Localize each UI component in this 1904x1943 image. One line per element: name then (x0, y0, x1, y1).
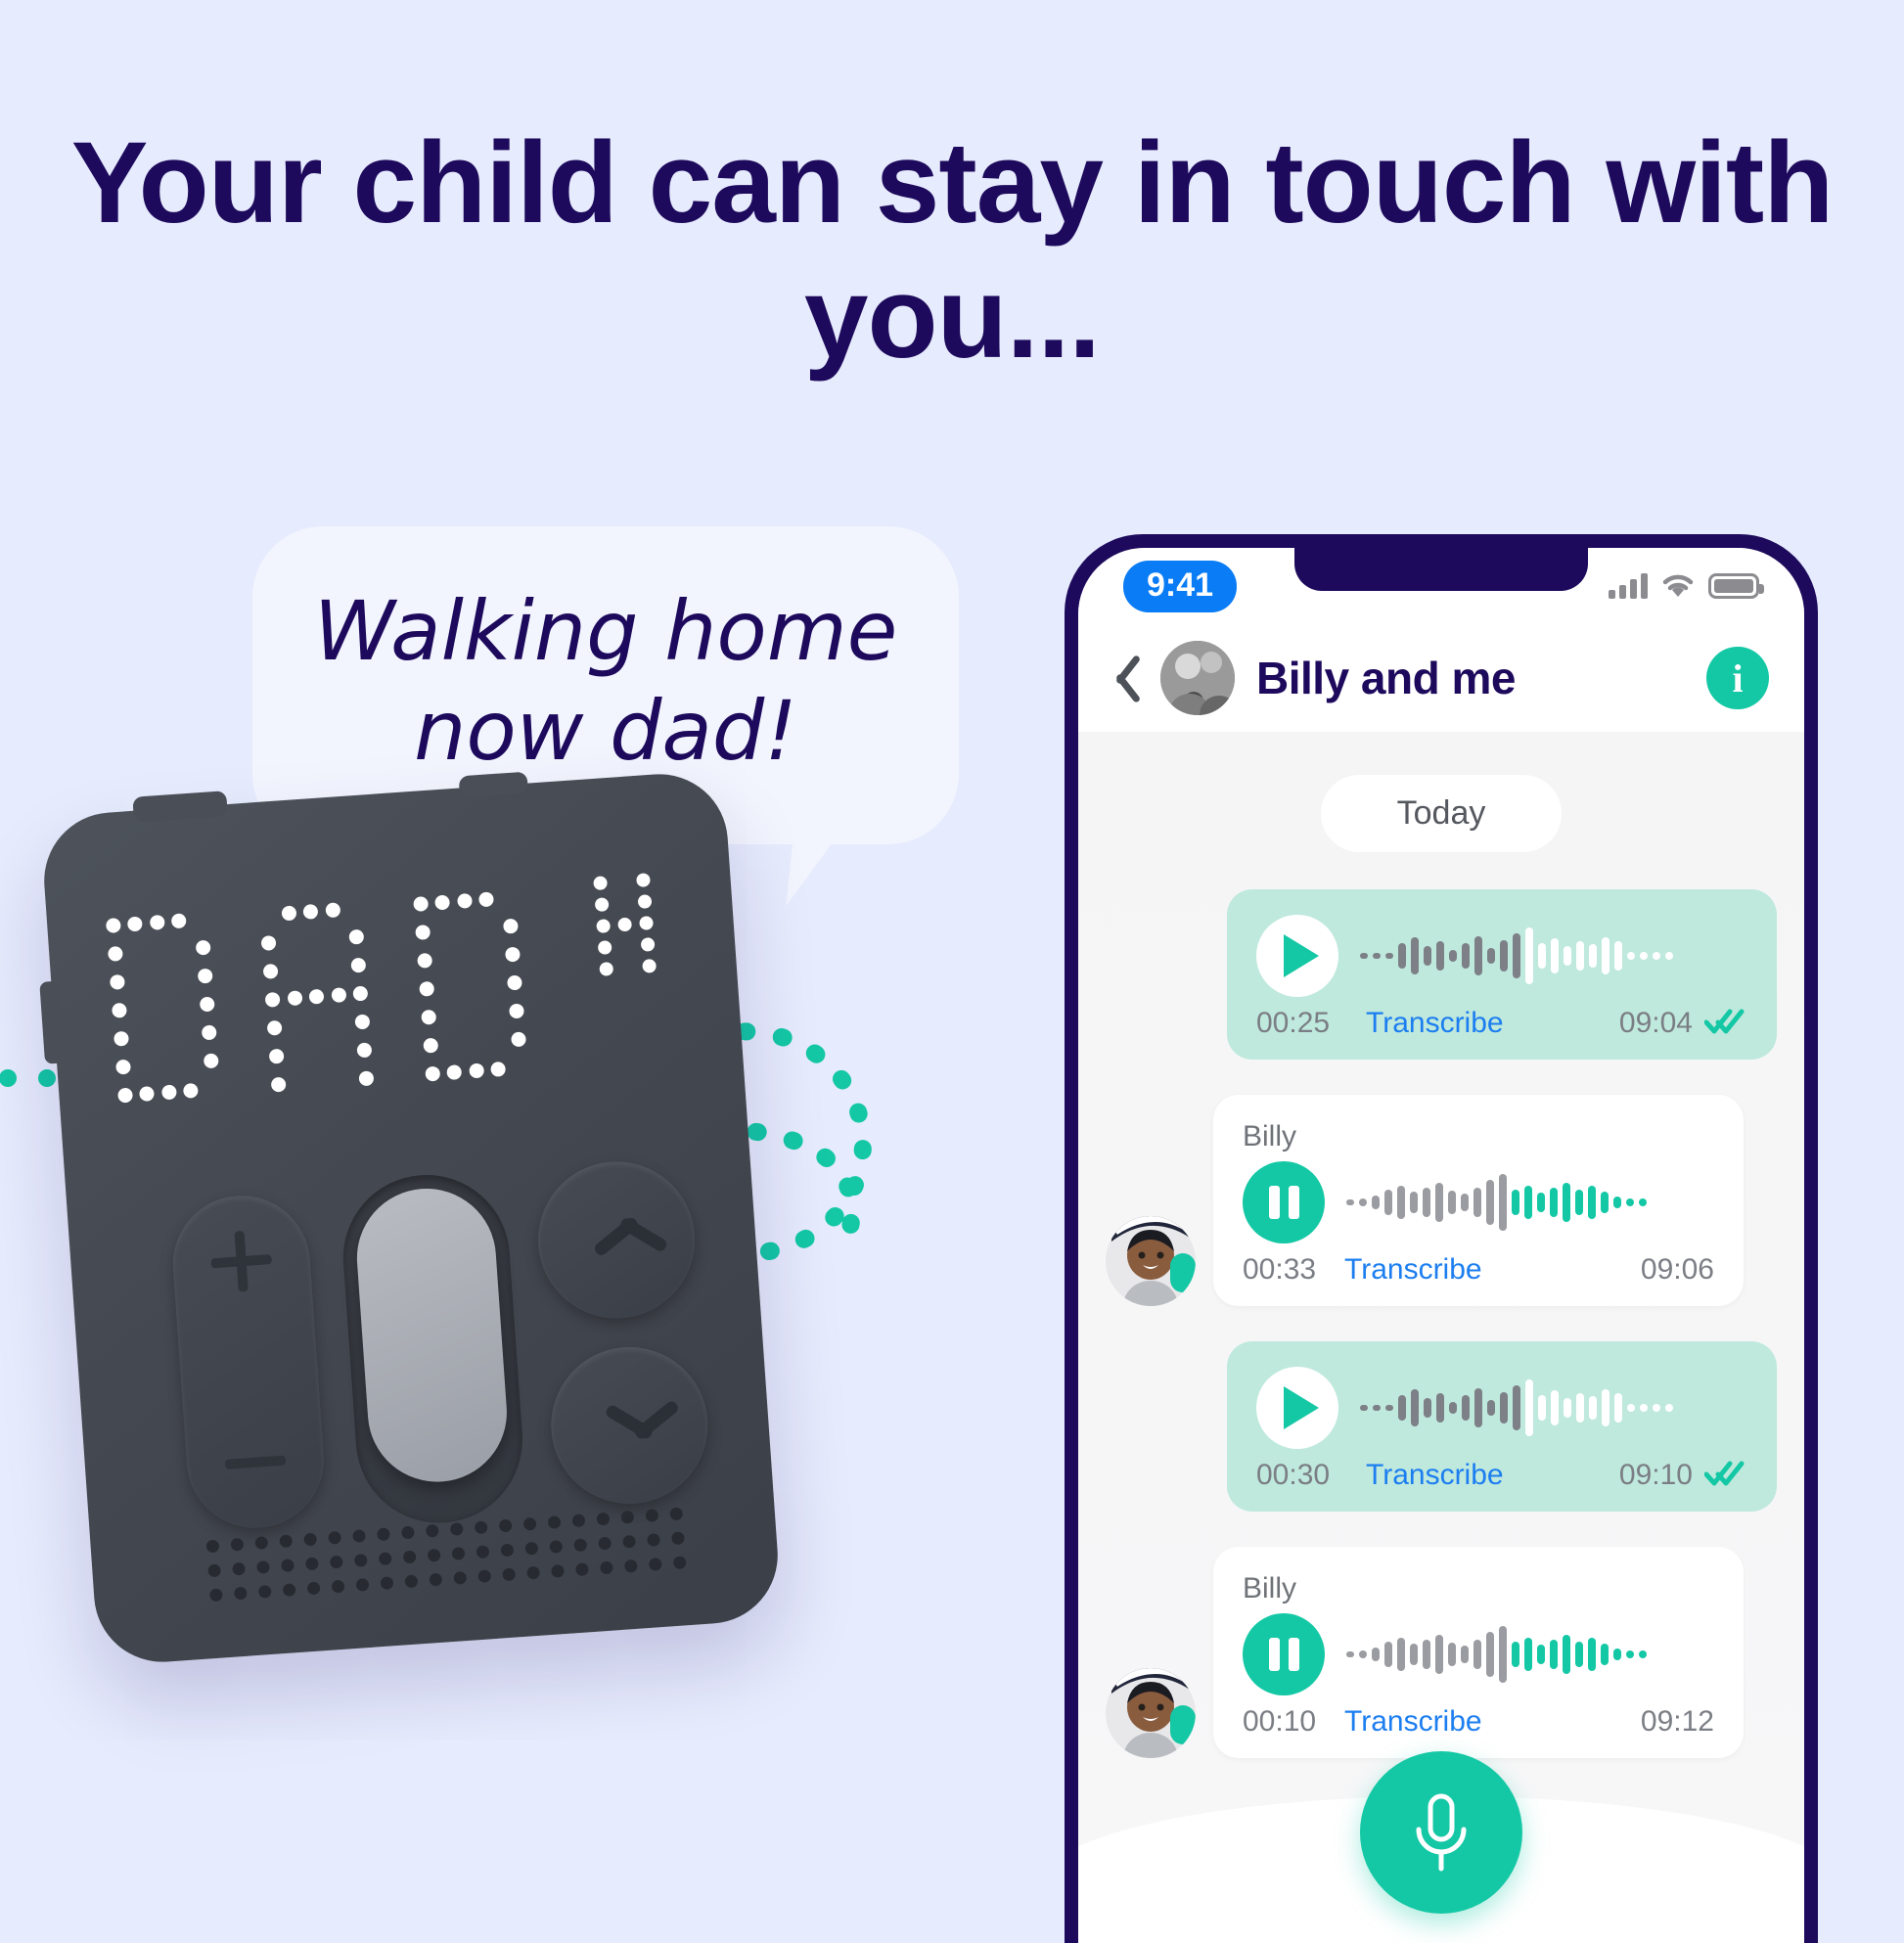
transcribe-link[interactable]: Transcribe (1344, 1705, 1641, 1739)
waveform-bar (1500, 940, 1508, 971)
chevron-up-icon (593, 1213, 639, 1259)
waveform-bar (1486, 1180, 1494, 1225)
page-title: Billy and me (1256, 652, 1685, 704)
waveform-bar (1614, 1393, 1622, 1423)
read-receipt-icon (1704, 1009, 1747, 1038)
avatar[interactable] (1160, 641, 1235, 715)
transcribe-link[interactable]: Transcribe (1358, 1007, 1619, 1040)
waveform-bar (1448, 1191, 1456, 1214)
waveform-bar (1398, 1395, 1406, 1421)
microphone-icon[interactable] (1360, 1751, 1522, 1914)
waveform-bar (1462, 1395, 1470, 1421)
voice-message-bubble[interactable]: Billy00:10Transcribe09:12 (1213, 1547, 1744, 1758)
waveform-bar (1423, 1640, 1430, 1669)
message-duration: 00:25 (1256, 1007, 1358, 1040)
voice-message-bubble[interactable]: Billy00:33Transcribe09:06 (1213, 1095, 1744, 1306)
chat-message: Billy00:33Transcribe09:06 (1106, 1095, 1777, 1306)
device-talk-button[interactable] (338, 1169, 527, 1528)
wifi-icon (1661, 573, 1695, 599)
date-divider: Today (1321, 775, 1562, 852)
waveform-bar (1435, 1635, 1443, 1674)
read-receipt-icon (1704, 1461, 1747, 1490)
waveform-bar (1360, 1405, 1368, 1411)
waveform-bar (1537, 1645, 1545, 1664)
waveform-bar (1424, 1398, 1431, 1418)
waveform-bar (1474, 1388, 1482, 1427)
waveform-bar (1513, 1385, 1520, 1430)
waveform-bar (1653, 1404, 1660, 1412)
waveform-bar (1601, 1644, 1609, 1665)
waveform[interactable] (1346, 1620, 1714, 1689)
waveform-bar (1473, 1188, 1481, 1217)
transcribe-link[interactable]: Transcribe (1344, 1253, 1641, 1287)
waveform-bar (1589, 1396, 1597, 1420)
device-display-dad (106, 890, 529, 1110)
chat-message: 00:30Transcribe09:10 (1106, 1341, 1777, 1512)
waveform-bar (1423, 1188, 1430, 1217)
waveform-bar (1372, 1648, 1380, 1661)
waveform-bar (1384, 1642, 1392, 1667)
waveform-bar (1639, 1198, 1647, 1206)
phone-notch (1294, 548, 1588, 591)
waveform-bar (1627, 1404, 1635, 1412)
message-timestamp: 09:04 (1619, 1007, 1693, 1040)
waveform-bar (1524, 1186, 1532, 1219)
chevron-left-icon[interactable] (1106, 653, 1139, 703)
voice-message-bubble[interactable]: 00:25Transcribe09:04 (1227, 889, 1777, 1060)
play-button[interactable] (1256, 1367, 1338, 1449)
chevron-down-icon (607, 1398, 653, 1444)
waveform-bar (1551, 938, 1559, 973)
waveform-bar (1385, 953, 1393, 959)
chat-navbar: Billy and me i (1078, 624, 1804, 732)
waveform-bar (1435, 1183, 1443, 1222)
waveform-bar (1626, 1650, 1634, 1658)
waveform-bar (1487, 1400, 1495, 1416)
battery-full-icon (1708, 573, 1759, 599)
device-volume-button[interactable] (168, 1191, 328, 1532)
waveform-bar (1397, 1638, 1405, 1671)
page-title: Your child can stay in touch with you... (0, 115, 1904, 385)
waveform-bar (1564, 946, 1571, 966)
waveform-bar (1346, 1651, 1354, 1657)
waveform-bar (1665, 952, 1673, 960)
waveform-bar (1576, 941, 1584, 971)
waveform-bar (1499, 1626, 1507, 1683)
waveform-bar (1575, 1642, 1583, 1667)
waveform-bar (1397, 1186, 1405, 1219)
status-time: 9:41 (1123, 561, 1237, 612)
avatar[interactable] (1106, 1216, 1196, 1306)
chat-message: 00:25Transcribe09:04 (1106, 889, 1777, 1060)
waveform-bar (1613, 1649, 1621, 1660)
waveform-bar (1513, 933, 1520, 978)
device-battery-icon (593, 873, 657, 976)
waveform-bar (1537, 1193, 1545, 1212)
waveform-bar (1448, 1643, 1456, 1666)
waveform-bar (1410, 1644, 1418, 1665)
message-sender-name: Billy (1243, 1572, 1714, 1605)
waveform-bar (1653, 952, 1660, 960)
waveform-bar (1359, 1650, 1367, 1658)
waveform-bar (1373, 1405, 1381, 1411)
phone-screen: 9:41 (1078, 548, 1804, 1943)
waveform-bar (1538, 1395, 1546, 1421)
waveform[interactable] (1360, 922, 1747, 990)
waveform-bar (1373, 953, 1381, 959)
waveform-bar (1487, 948, 1495, 964)
waveform-bar (1449, 1402, 1457, 1414)
waveform-bar (1665, 1404, 1673, 1412)
waveform-bar (1538, 943, 1546, 969)
waveform-bar (1575, 1190, 1583, 1215)
message-duration: 00:33 (1243, 1253, 1344, 1287)
waveform-bar (1525, 1379, 1533, 1436)
voice-message-bubble[interactable]: 00:30Transcribe09:10 (1227, 1341, 1777, 1512)
waveform-bar (1524, 1638, 1532, 1671)
waveform-bar (1563, 1183, 1570, 1222)
waveform-bar (1436, 1393, 1444, 1423)
play-icon (1284, 934, 1319, 977)
waveform-bar (1449, 950, 1457, 962)
message-timestamp: 09:12 (1641, 1705, 1714, 1739)
waveform-bar (1462, 943, 1470, 969)
waveform-bar (1500, 1392, 1508, 1423)
waveform-bar (1564, 1398, 1571, 1418)
waveform-bar (1640, 1404, 1648, 1412)
message-timestamp: 09:10 (1619, 1459, 1693, 1492)
minus-icon (225, 1456, 287, 1469)
waveform-bar (1359, 1198, 1367, 1206)
waveform-bar (1588, 1638, 1596, 1671)
speech-bubble-text: Walking home now dad! (292, 581, 920, 782)
waveform-bar (1563, 1635, 1570, 1674)
waveform-bar (1512, 1190, 1519, 1215)
plus-icon (210, 1254, 272, 1268)
waveform-bar (1372, 1196, 1380, 1209)
waveform-bar (1626, 1198, 1634, 1206)
composer-bar (1078, 1738, 1804, 1943)
waveform-bar (1499, 1174, 1507, 1231)
waveform-bar (1398, 943, 1406, 969)
play-button[interactable] (1256, 915, 1338, 997)
speech-bubble-tail (786, 780, 867, 914)
message-timestamp: 09:06 (1641, 1253, 1714, 1287)
waveform-bar (1589, 944, 1597, 968)
kids-device (40, 770, 783, 1667)
chat-message: Billy00:10Transcribe09:12 (1106, 1547, 1777, 1758)
waveform-bar (1384, 1190, 1392, 1215)
waveform-bar (1614, 941, 1622, 971)
waveform-bar (1436, 941, 1444, 971)
waveform-bar (1411, 1389, 1419, 1426)
waveform-bar (1461, 1194, 1469, 1211)
waveform-bar (1385, 1405, 1393, 1411)
pause-button[interactable] (1243, 1613, 1325, 1695)
pause-icon (1269, 1186, 1299, 1219)
waveform-bar (1410, 1192, 1418, 1213)
waveform-bar (1512, 1642, 1519, 1667)
message-sender-name: Billy (1243, 1120, 1714, 1153)
waveform-bar (1602, 937, 1609, 974)
pause-icon (1269, 1638, 1299, 1671)
waveform-bar (1551, 1390, 1559, 1425)
message-duration: 00:10 (1243, 1705, 1344, 1739)
transcribe-link[interactable]: Transcribe (1358, 1459, 1619, 1492)
waveform-bar (1550, 1188, 1558, 1217)
pause-button[interactable] (1243, 1161, 1325, 1243)
waveform-bar (1411, 937, 1419, 974)
waveform-bar (1346, 1199, 1354, 1205)
cellular-signal-icon (1609, 573, 1648, 599)
waveform-bar (1588, 1186, 1596, 1219)
info-icon[interactable]: i (1706, 647, 1769, 709)
waveform-bar (1525, 927, 1533, 984)
waveform-bar (1602, 1389, 1609, 1426)
waveform-bar (1474, 936, 1482, 975)
info-label: i (1732, 655, 1743, 701)
waveform[interactable] (1360, 1374, 1747, 1442)
message-duration: 00:30 (1256, 1459, 1358, 1492)
play-icon (1284, 1386, 1319, 1429)
waveform-bar (1613, 1197, 1621, 1208)
waveform-bar (1627, 952, 1635, 960)
waveform-bar (1461, 1646, 1469, 1663)
phone-mockup: 9:41 (1065, 534, 1818, 1943)
waveform-bar (1576, 1393, 1584, 1423)
waveform-bar (1640, 952, 1648, 960)
waveform-bar (1360, 953, 1368, 959)
waveform-bar (1601, 1192, 1609, 1213)
waveform-bar (1473, 1640, 1481, 1669)
online-badge (1170, 1253, 1196, 1292)
waveform-bar (1486, 1632, 1494, 1677)
waveform-bar (1550, 1640, 1558, 1669)
waveform-bar (1639, 1650, 1647, 1658)
waveform-bar (1424, 946, 1431, 966)
waveform[interactable] (1346, 1168, 1714, 1237)
